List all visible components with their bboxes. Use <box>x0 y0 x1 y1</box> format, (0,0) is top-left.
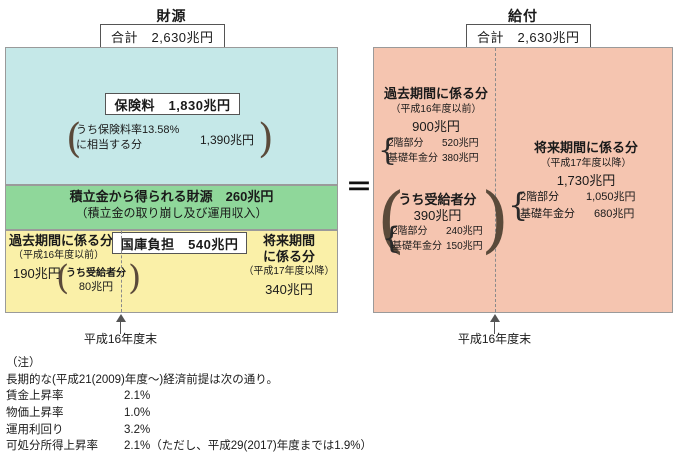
left-panel-period-divider <box>121 231 122 312</box>
reserve-subtext: （積立金の取り崩し及び運用収入） <box>5 206 338 221</box>
premium-sub-paren-right: ) <box>258 119 274 159</box>
source-recipient-line2: 80兆円 <box>62 281 130 295</box>
source-past-heading: 過去期間に係る分 <box>9 233 113 249</box>
premium-sub-line1: うち保険料率13.58% <box>76 124 179 138</box>
source-future-value: 340兆円 <box>243 282 335 298</box>
benefit-past-tier2-value: 520兆円 <box>442 138 479 151</box>
premium-sub-line2: に相当する分 <box>76 139 142 153</box>
benefit-past-basic-label: 基礎年金分 <box>388 153 438 166</box>
footnote-row-label: 賃金上昇率 <box>6 388 124 405</box>
benefit-past-tier2-label: 2階部分 <box>388 138 424 151</box>
benefit-recipient-tier2-label: 2階部分 <box>392 226 428 239</box>
right-panel-total-box: 合計 2,630兆円 <box>466 24 591 49</box>
benefit-recipient-paren-right: ) <box>481 183 509 255</box>
footnote-row-value: 2.1% <box>124 388 150 405</box>
footnote-row-value: 1.0% <box>124 405 150 422</box>
benefit-past-basic-value: 380兆円 <box>442 153 479 166</box>
benefit-future-subtext: （平成17年度以降） <box>503 158 669 171</box>
source-past-value: 190兆円 <box>13 266 61 282</box>
benefit-future-tier2-value: 1,050兆円 <box>586 191 636 205</box>
source-future-line2: に係る分 <box>243 249 335 265</box>
footnote-row-value: 2.1%（ただし、平成29(2017)年度までは1.9%） <box>124 438 372 455</box>
footnote-row: 物価上昇率 1.0% <box>6 405 372 422</box>
benefit-past-subtext: （平成16年度以前） <box>378 104 494 117</box>
treasury-burden-box: 国庫負担 540兆円 <box>112 232 247 254</box>
benefit-recipient-basic-value: 150兆円 <box>446 241 483 254</box>
benefit-future-basic-value: 680兆円 <box>594 208 634 222</box>
left-axis-label: 平成16年度末 <box>58 332 183 347</box>
benefit-recipient-value: 390兆円 <box>390 208 485 224</box>
footnote-row-label: 運用利回り <box>6 422 124 439</box>
source-recipient-line1: うち受給者分 <box>62 268 130 281</box>
left-axis-arrow-head <box>116 314 126 322</box>
footnote-row: 可処分所得上昇率 2.1%（ただし、平成29(2017)年度までは1.9%） <box>6 438 372 455</box>
left-panel-total-box: 合計 2,630兆円 <box>100 24 225 49</box>
right-axis-arrow-head <box>490 314 500 322</box>
benefit-recipient-heading: うち受給者分 <box>390 192 485 208</box>
footnote-row-label: 物価上昇率 <box>6 405 124 422</box>
source-premium-band <box>5 47 338 185</box>
footnote-row-value: 3.2% <box>124 422 150 439</box>
footnote-row: 賃金上昇率 2.1% <box>6 388 372 405</box>
left-panel-title: 財源 <box>5 6 338 26</box>
right-axis-label: 平成16年度末 <box>432 332 557 347</box>
source-future-subtext: （平成17年度以降） <box>239 266 339 279</box>
footnote-row-label: 可処分所得上昇率 <box>6 438 124 455</box>
benefit-future-basic-label: 基礎年金分 <box>520 208 575 222</box>
footnote-marker: （注） <box>6 355 372 372</box>
footnote: （注） 長期的な(平成21(2009)年度〜)経済前提は次の通り。 賃金上昇率 … <box>6 355 372 455</box>
reserve-heading: 積立金から得られる財源 260兆円 <box>5 189 338 205</box>
benefit-future-heading: 将来期間に係る分 <box>503 140 669 156</box>
equals-operator: ＝ <box>346 174 372 200</box>
benefit-recipient-basic-label: 基礎年金分 <box>392 241 442 254</box>
right-panel-title: 給付 <box>373 6 673 26</box>
premium-sub-value: 1,390兆円 <box>200 133 254 148</box>
premium-box: 保険料 1,830兆円 <box>105 93 240 115</box>
footnote-row: 運用利回り 3.2% <box>6 422 372 439</box>
benefit-past-heading: 過去期間に係る分 <box>378 86 494 102</box>
footnote-intro: 長期的な(平成21(2009)年度〜)経済前提は次の通り。 <box>6 372 372 389</box>
benefit-recipient-tier2-value: 240兆円 <box>446 226 483 239</box>
source-future-line1: 将来期間 <box>243 233 335 249</box>
benefit-future-tier2-label: 2階部分 <box>520 191 559 205</box>
